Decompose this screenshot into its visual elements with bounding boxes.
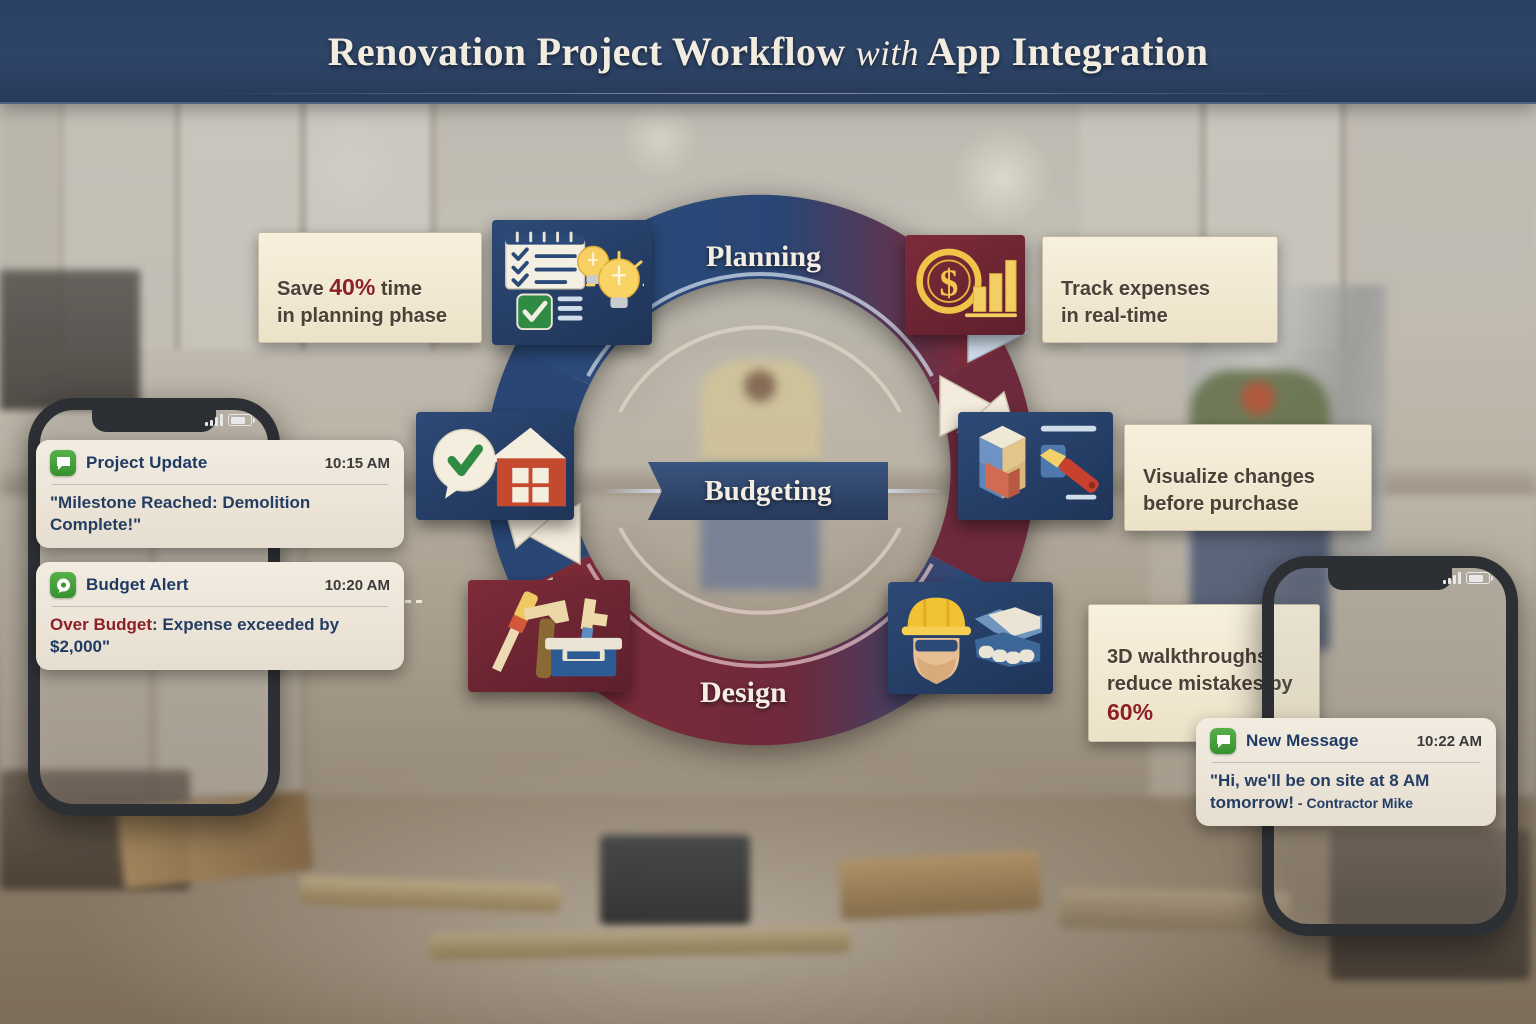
notification-budget-alert[interactable]: Budget Alert 10:20 AM Over Budget: Expen…	[36, 562, 404, 670]
divider	[52, 606, 388, 607]
phone-status-bar	[1443, 572, 1490, 584]
phase-label-budgeting: Budgeting	[704, 475, 831, 508]
green-check-icon	[517, 294, 552, 329]
callout-text-pre: Track expenses in real-time	[1061, 278, 1210, 326]
phase-label-design: Design	[700, 676, 787, 710]
tile-contractor-crew[interactable]	[888, 582, 1053, 694]
notification-time: 10:22 AM	[1417, 733, 1482, 750]
3d-blocks-icon	[968, 426, 1026, 499]
notification-time: 10:20 AM	[325, 577, 390, 594]
header-banner: Renovation Project Workflow with App Int…	[0, 0, 1536, 104]
dollar-coin-icon: $	[920, 252, 979, 311]
house-icon	[491, 428, 566, 507]
callout-highlight: 40%	[329, 274, 375, 300]
phone-notch	[92, 410, 216, 432]
tile-expense-tracking[interactable]: $	[905, 235, 1025, 335]
callout-track-expenses: Track expenses in real-time	[1042, 236, 1278, 343]
message-signoff: - Contractor Mike	[1294, 795, 1413, 811]
notification-body: "Hi, we'll be on site at 8 AM tomorrow! …	[1210, 770, 1482, 814]
tile-visualization[interactable]	[958, 412, 1113, 520]
notification-time: 10:15 AM	[325, 455, 390, 472]
phase-banner-budgeting: Budgeting	[648, 462, 888, 520]
divider	[52, 484, 388, 485]
alert-label: Over Budget	[50, 615, 152, 634]
callout-save-time: Save 40% time in planning phase	[258, 232, 482, 343]
callout-visualize-changes: Visualize changes before purchase	[1124, 424, 1372, 531]
tile-tools[interactable]	[468, 580, 630, 692]
title-italic: with	[856, 33, 919, 73]
callout-text-pre: Visualize changes before purchase	[1143, 466, 1315, 514]
page-title: Renovation Project Workflow with App Int…	[328, 28, 1209, 75]
toolbox-icon	[545, 638, 622, 676]
title-tail: App Integration	[927, 29, 1208, 74]
divider	[1212, 762, 1480, 763]
notification-project-update[interactable]: Project Update 10:15 AM "Milestone Reach…	[36, 440, 404, 548]
alert-amount: $2,000"	[50, 637, 110, 656]
tile-planning-tools[interactable]	[492, 220, 652, 345]
svg-text:$: $	[939, 262, 958, 304]
notification-app-name: Project Update	[86, 453, 207, 473]
banner-tail-right	[884, 489, 944, 493]
banner-tail-left	[600, 489, 660, 493]
home-icons-group	[424, 418, 566, 514]
notification-app-name: New Message	[1246, 731, 1359, 751]
notification-new-message[interactable]: New Message 10:22 AM "Hi, we'll be on si…	[1196, 718, 1496, 826]
visualization-icons-group	[966, 418, 1105, 514]
planning-icons-group	[500, 227, 644, 339]
phase-label-planning: Planning	[706, 240, 821, 274]
signal-bars-icon	[205, 414, 223, 426]
crew-icons-group	[896, 588, 1045, 688]
checklist-icon	[506, 233, 585, 289]
screwdriver-icon	[489, 590, 539, 673]
battery-icon	[1466, 572, 1490, 584]
message-bubble-icon	[50, 450, 76, 476]
tile-home-approval[interactable]	[416, 412, 574, 520]
title-main: Renovation Project Workflow	[328, 29, 846, 74]
alert-body-mid: : Expense exceeded by	[152, 615, 339, 634]
hard-hat-worker-icon	[902, 598, 971, 685]
notification-body: "Milestone Reached: Demolition Complete!…	[50, 492, 390, 536]
tools-icons-group	[476, 586, 622, 686]
infographic-canvas: Renovation Project Workflow with App Int…	[0, 0, 1536, 1024]
message-bubble-icon	[1210, 728, 1236, 754]
phone-notch	[1328, 568, 1452, 590]
budget-bubble-icon	[50, 572, 76, 598]
battery-icon	[228, 414, 252, 426]
signal-bars-icon	[1443, 572, 1461, 584]
handshake-icon	[975, 607, 1042, 667]
callout-text-pre: Save	[277, 278, 329, 300]
notification-app-name: Budget Alert	[86, 575, 189, 595]
notification-body: Over Budget: Expense exceeded by $2,000"	[50, 614, 390, 658]
speech-bubble-check-icon	[434, 430, 495, 499]
expense-icons-group: $	[913, 241, 1017, 329]
phone-status-bar	[205, 414, 252, 426]
callout-highlight: 60%	[1107, 699, 1153, 725]
